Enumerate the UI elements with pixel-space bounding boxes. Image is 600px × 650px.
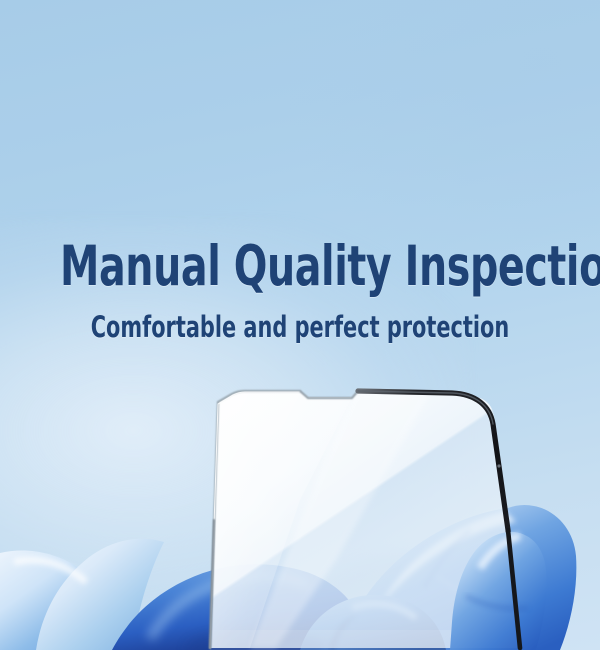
frame-speckle: [497, 464, 500, 467]
banner-subtitle: Comfortable and perfect protection: [60, 312, 540, 342]
product-photo: [0, 380, 600, 650]
product-banner: Manual Quality Inspection Comfortable an…: [0, 0, 600, 650]
banner-headline: Manual Quality Inspection: [60, 238, 540, 294]
banner-text-block: Manual Quality Inspection Comfortable an…: [0, 238, 600, 343]
product-photo-illustration: [0, 380, 600, 650]
glass-notch-cutout: [300, 391, 358, 398]
